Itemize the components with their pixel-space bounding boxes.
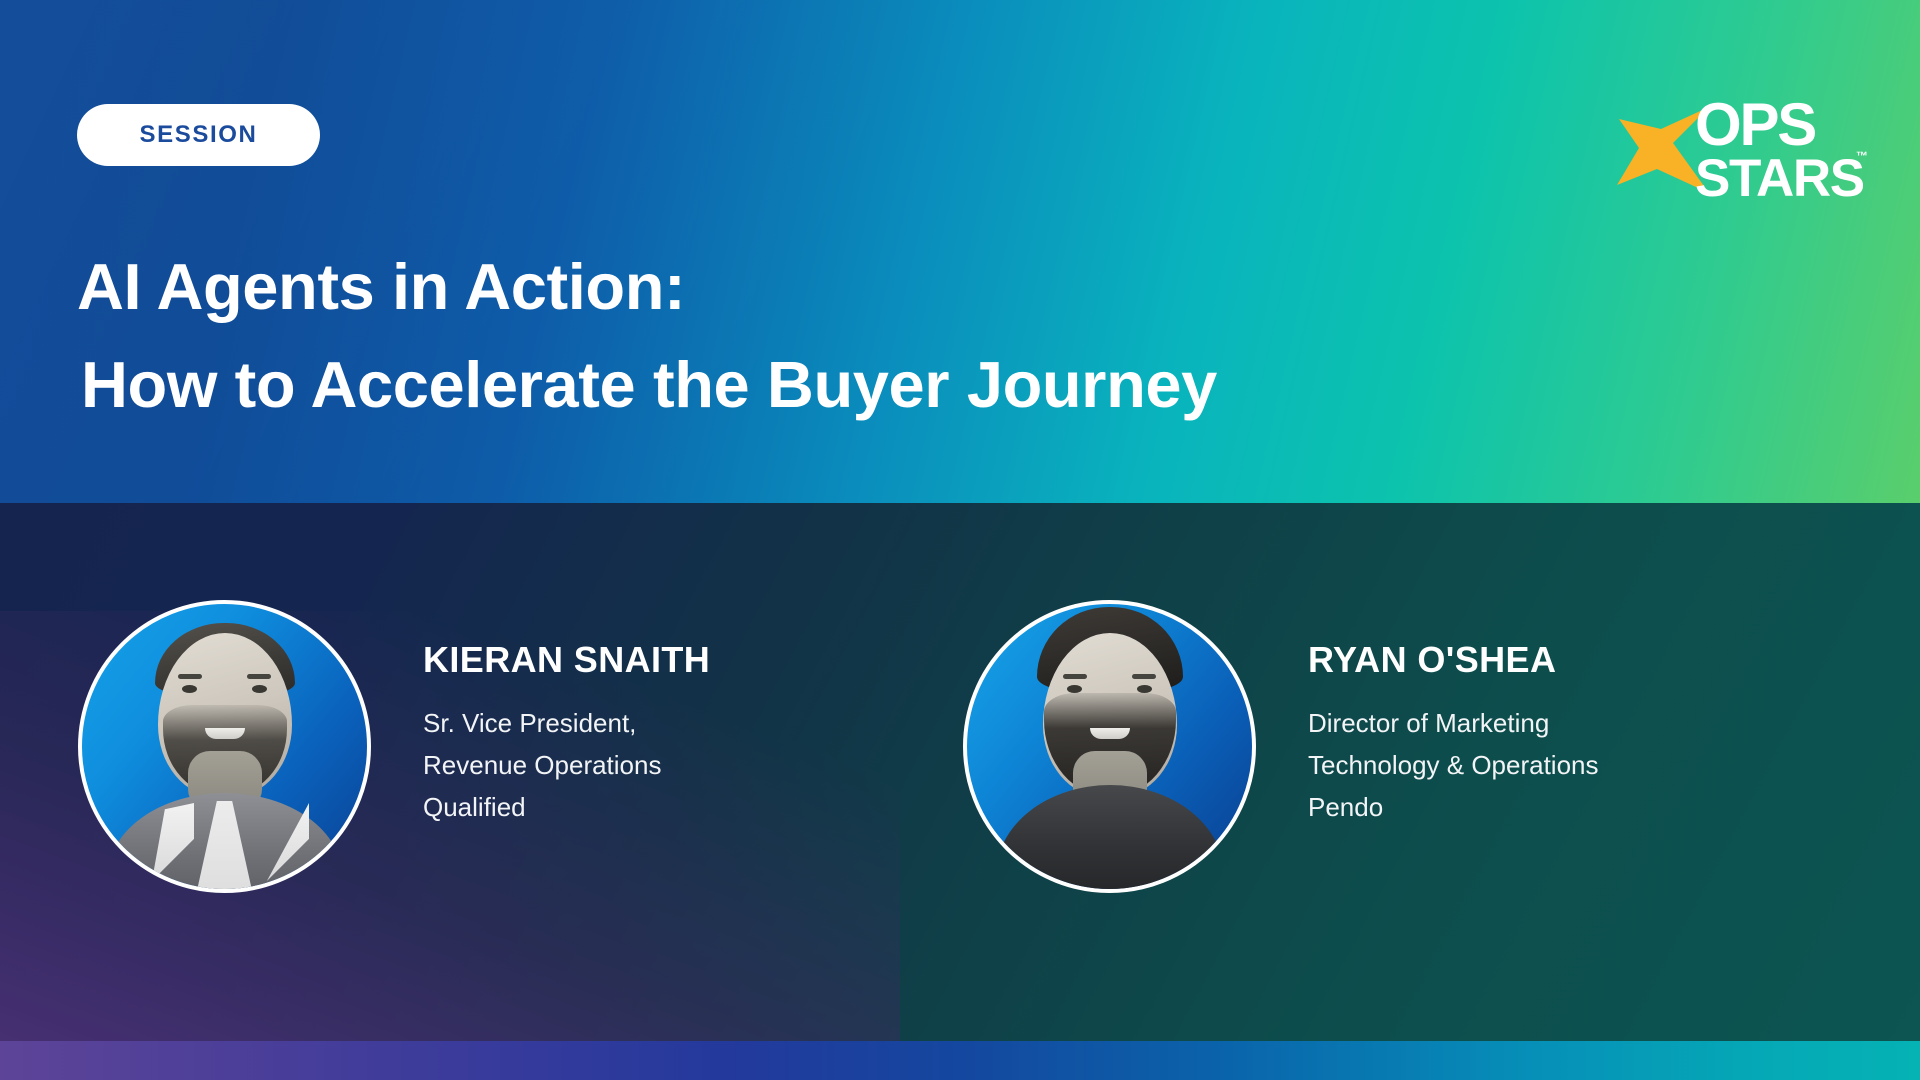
logo-text-ops: OPS bbox=[1695, 95, 1855, 155]
speakers-row: KIERAN SNAITH Sr. Vice President, Revenu… bbox=[0, 600, 1920, 930]
speaker-info: RYAN O'SHEA Director of Marketing Techno… bbox=[1308, 600, 1599, 828]
speaker-role-line-1: Sr. Vice President, bbox=[423, 702, 710, 744]
speaker-name: KIERAN SNAITH bbox=[423, 640, 710, 680]
session-badge: SESSION bbox=[77, 104, 320, 166]
opsstars-wordmark: OPS STARS ™ bbox=[1695, 95, 1855, 200]
avatar bbox=[78, 600, 371, 893]
speaker-info: KIERAN SNAITH Sr. Vice President, Revenu… bbox=[423, 600, 710, 828]
portrait-image bbox=[967, 604, 1252, 889]
speaker-role-line-2: Revenue Operations bbox=[423, 744, 710, 786]
title-line-2: How to Accelerate the Buyer Journey bbox=[77, 336, 1637, 434]
speaker-card: RYAN O'SHEA Director of Marketing Techno… bbox=[963, 600, 1599, 893]
speaker-company: Pendo bbox=[1308, 786, 1599, 828]
bottom-accent-strip bbox=[0, 1041, 1920, 1080]
trademark-symbol: ™ bbox=[1856, 149, 1868, 163]
promo-banner: SESSION AI Agents in Action: How to Acce… bbox=[0, 0, 1920, 1080]
avatar bbox=[963, 600, 1256, 893]
logo-text-stars: STARS bbox=[1695, 152, 1855, 205]
speaker-company: Qualified bbox=[423, 786, 710, 828]
session-title: AI Agents in Action: How to Accelerate t… bbox=[77, 238, 1637, 434]
portrait-image bbox=[82, 604, 367, 889]
speaker-role-line-2: Technology & Operations bbox=[1308, 744, 1599, 786]
speaker-card: KIERAN SNAITH Sr. Vice President, Revenu… bbox=[78, 600, 710, 893]
speaker-role-line-1: Director of Marketing bbox=[1308, 702, 1599, 744]
speaker-name: RYAN O'SHEA bbox=[1308, 640, 1599, 680]
title-line-1: AI Agents in Action: bbox=[77, 238, 1637, 336]
session-badge-label: SESSION bbox=[140, 121, 258, 149]
opsstars-logo: OPS STARS ™ bbox=[1617, 95, 1852, 200]
